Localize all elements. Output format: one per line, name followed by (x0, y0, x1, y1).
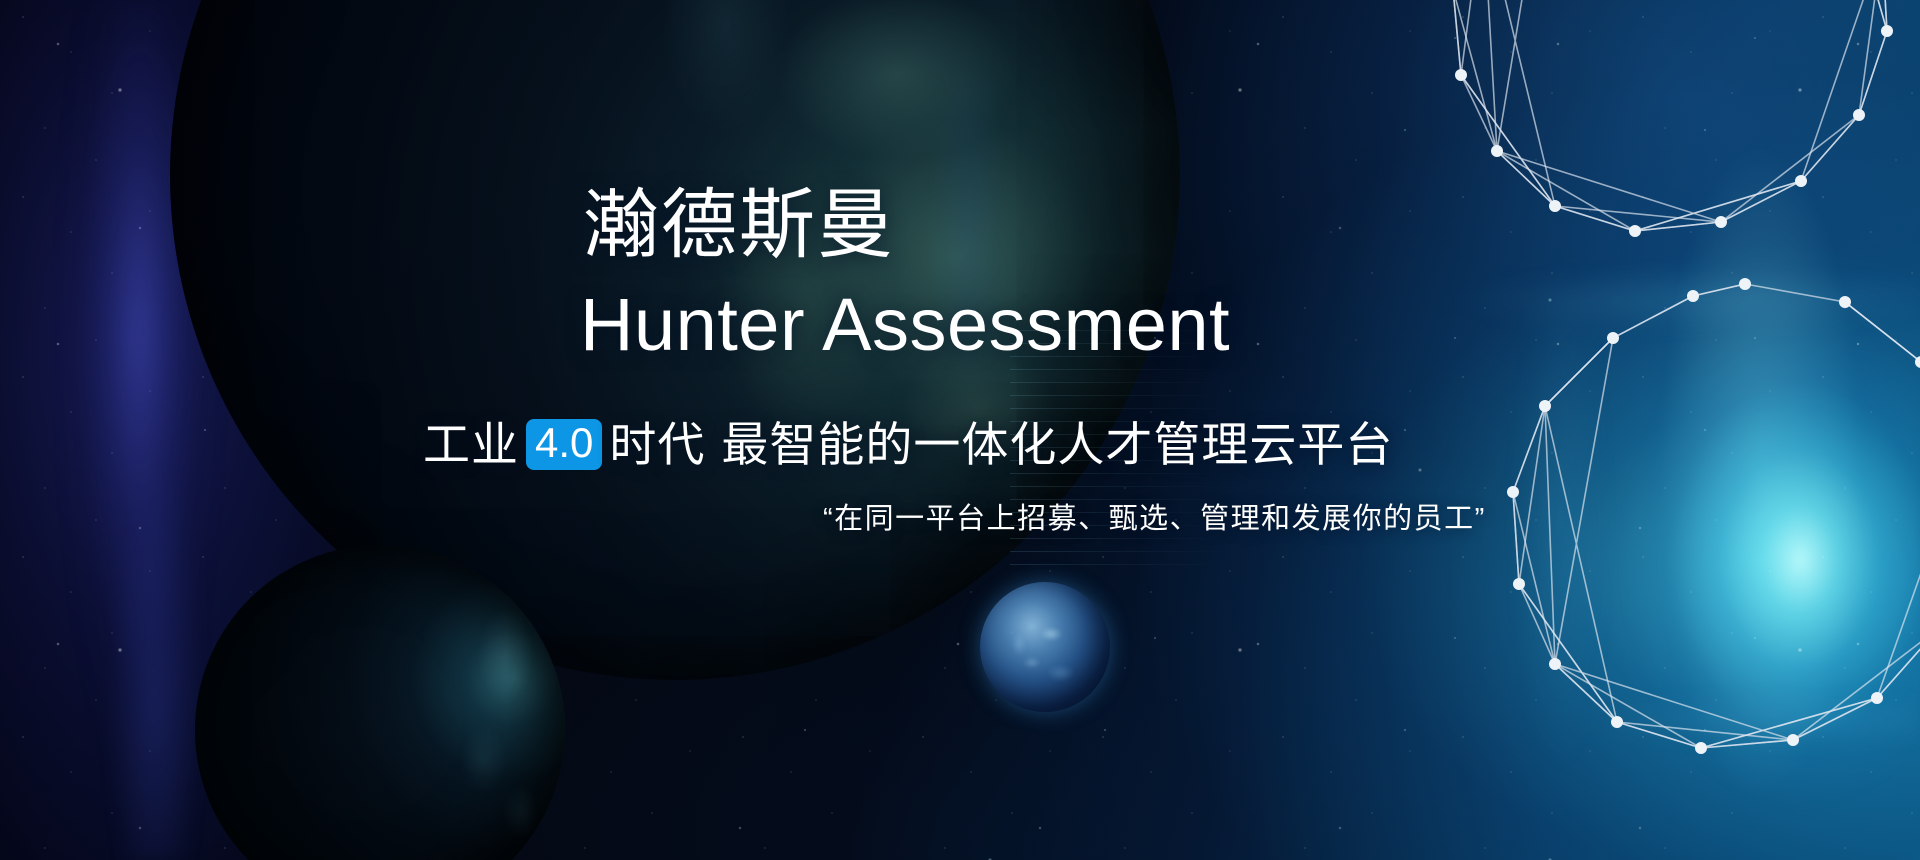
tagline-suffix: 最智能的一体化人才管理云平台 (721, 421, 1393, 468)
brand-title-chinese: 瀚德斯曼 (583, 188, 895, 264)
tagline-prefix: 工业 (423, 421, 519, 468)
hero-content: 瀚德斯曼 Hunter Assessment 工业 4.0 时代 最智能的一体化… (0, 0, 1920, 860)
industry-version-badge: 4.0 (526, 419, 602, 470)
hero-banner: 瀚德斯曼 Hunter Assessment 工业 4.0 时代 最智能的一体化… (0, 0, 1920, 860)
tagline: 工业 4.0 时代 最智能的一体化人才管理云平台 (423, 419, 1393, 470)
tagline-middle: 时代 (609, 421, 705, 468)
tagline-quote: “在同一平台上招募、甄选、管理和发展你的员工” (823, 505, 1486, 534)
brand-title-english: Hunter Assessment (580, 288, 1230, 362)
